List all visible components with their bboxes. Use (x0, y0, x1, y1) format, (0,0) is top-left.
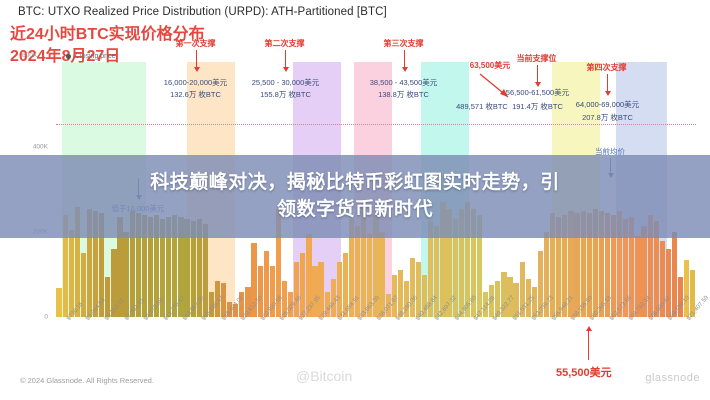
annotation-range-6: 64,000-69,000美元 (540, 100, 675, 110)
annotation-title-2: 第二次支撑 (227, 38, 342, 49)
annotation-arrow-1 (196, 50, 197, 68)
bar (337, 262, 342, 317)
annotation-arrow-5 (537, 65, 538, 83)
chart-title: BTC: UTXO Realized Price Distribution (U… (18, 6, 387, 18)
closing-price-dot-icon (66, 54, 71, 59)
annotation-amount-3: 138.8万 枚BTC (336, 90, 471, 100)
copyright-text: © 2024 Glassnode. All Rights Reserved. (20, 376, 154, 385)
bar (672, 232, 677, 317)
annotation-amount-6: 207.8万 枚BTC (540, 113, 675, 123)
annotation-title-6: 第四次支撑 (549, 62, 664, 73)
annotation-arrow-6 (607, 74, 608, 92)
annotation-range-5: 56,500-61,500美元 (470, 88, 605, 98)
closing-price-guide-line (56, 124, 696, 125)
y-axis-top-label: 600K (22, 52, 37, 59)
bar (258, 266, 263, 317)
overlay-banner: 科技巅峰对决，揭秘比特币彩虹图实时走势，引 领数字货币新时代 (0, 155, 710, 238)
bar (312, 266, 317, 317)
chart-screenshot: BTC: UTXO Realized Price Distribution (U… (0, 0, 710, 400)
legend-label: Closing price (75, 53, 115, 60)
legend: Closing price (66, 53, 115, 60)
bar (416, 262, 421, 317)
y-tick-label: 400K (33, 144, 48, 151)
bottom-annotation-label: 55,500美元 (556, 364, 612, 380)
overlay-line-2: 领数字货币新时代 (55, 197, 655, 223)
bar (684, 260, 689, 317)
overlay-line-1: 科技巅峰对决，揭秘比特币彩虹图实时走势，引 (55, 170, 655, 196)
y-tick-label: 0 (44, 314, 48, 321)
bar (123, 232, 128, 317)
bar (294, 262, 299, 317)
watermark-text: @Bitcoin (296, 368, 352, 384)
brand-label: glassnode (645, 372, 700, 384)
bottom-annotation-arrow (588, 330, 589, 360)
bar (56, 288, 61, 317)
bar (666, 249, 671, 317)
bar (318, 262, 323, 317)
annotation-arrow-2 (285, 50, 286, 68)
bar (379, 232, 384, 317)
annotation-range-2: 25,500 - 30,000美元 (218, 78, 353, 88)
annotation-title-3: 第三次支撑 (346, 38, 461, 49)
annotation-range-3: 38,500 - 43,500美元 (336, 78, 471, 88)
overlay-text: 科技巅峰对决，揭秘比特币彩虹图实时走势，引 领数字货币新时代 (55, 170, 655, 222)
annotation-amount-2: 155.8万 枚BTC (218, 90, 353, 100)
bar (69, 230, 74, 317)
bar (300, 253, 305, 317)
